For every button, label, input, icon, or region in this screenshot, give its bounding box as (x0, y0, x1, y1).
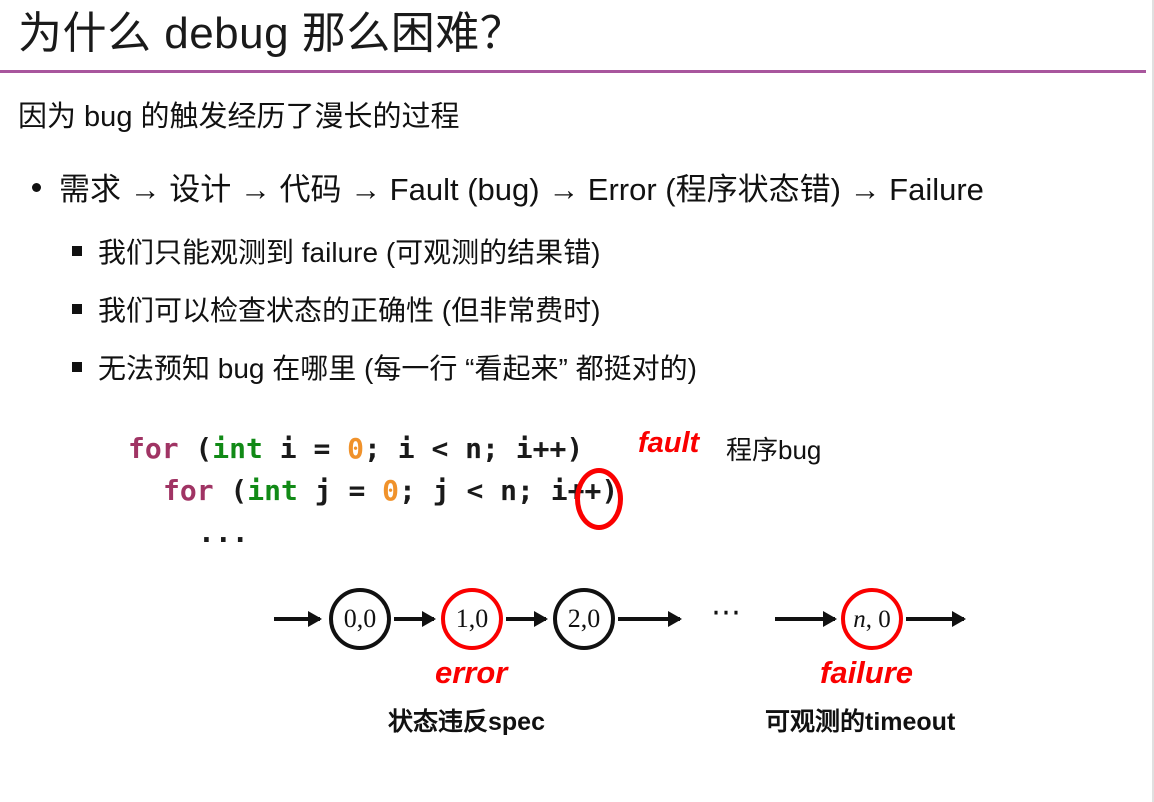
state-node-label-math: n (853, 607, 866, 632)
state-node-0-0: 0,0 (329, 588, 391, 650)
bullet-square-icon (72, 304, 82, 314)
state-node-n-0: n, 0 (841, 588, 903, 650)
bullet-level1-text: 需求 → 设计 → 代码 → Fault (bug) → Error (程序状态… (59, 170, 984, 210)
error-label: error (435, 655, 507, 691)
state-node-label-rest: , 0 (866, 607, 891, 632)
code-line-ellipsis: ... (198, 512, 249, 554)
code-number-zero: 0 (347, 432, 364, 465)
failure-caption: 可观测的timeout (765, 702, 955, 738)
title-underline-rule (0, 70, 1146, 73)
code-var-init: j = (298, 474, 382, 507)
bullet-dot-icon (32, 183, 41, 192)
error-caption: 状态违反spec (388, 702, 545, 738)
code-number-zero: 0 (382, 474, 399, 507)
code-keyword-for: for (163, 474, 214, 507)
fault-annotation-note: 程序bug (726, 430, 821, 467)
arrow-icon-exit (906, 617, 964, 621)
code-line-inner-for: for (int j = 0; j < n; i++) (163, 470, 618, 512)
code-punct-open: ( (214, 474, 248, 507)
code-punct-open: ( (179, 432, 213, 465)
code-line-outer-for: for (int i = 0; i < n; i++) (128, 428, 583, 470)
state-node-1-0: 1,0 (441, 588, 503, 650)
code-type-int: int (247, 474, 298, 507)
arrow-icon-0-to-1 (394, 617, 434, 621)
state-node-label: 0,0 (344, 606, 377, 632)
bullet-level2-check-state: 我们可以检查状态的正确性 (但非常费时) (72, 293, 600, 329)
code-condition: ; j < n; i++) (399, 474, 618, 507)
arrow-icon-into-n (775, 617, 835, 621)
lead-paragraph: 因为 bug 的触发经历了漫长的过程 (18, 99, 460, 137)
bullet-level1-pipeline: 需求 → 设计 → 代码 → Fault (bug) → Error (程序状态… (32, 170, 984, 210)
bullet-level2-text: 我们只能观测到 failure (可观测的结果错) (98, 235, 600, 271)
arrow-icon-1-to-2 (506, 617, 546, 621)
state-node-2-0: 2,0 (553, 588, 615, 650)
failure-label: failure (820, 655, 913, 691)
slide-canvas: 为什么 debug 那么困难？ 因为 bug 的触发经历了漫长的过程 需求 → … (0, 0, 1154, 802)
code-type-int: int (212, 432, 263, 465)
bullet-level2-observe-failure: 我们只能观测到 failure (可观测的结果错) (72, 235, 600, 271)
arrow-icon-2-onward (618, 617, 680, 621)
code-var-init: i = (263, 432, 347, 465)
code-condition: ; i < n; i++) (364, 432, 583, 465)
state-node-label: 2,0 (568, 606, 601, 632)
fault-annotation-label: fault (638, 427, 699, 460)
bullet-square-icon (72, 246, 82, 256)
diagram-ellipsis: ⋯ (711, 595, 743, 630)
bullet-square-icon (72, 362, 82, 372)
bullet-level2-text: 无法预知 bug 在哪里 (每一行 “看起来” 都挺对的) (98, 351, 697, 387)
bullet-level2-text: 我们可以检查状态的正确性 (但非常费时) (98, 293, 600, 329)
state-node-label: 1,0 (456, 606, 489, 632)
code-keyword-for: for (128, 432, 179, 465)
state-diagram: 0,0 1,0 2,0 ⋯ n, 0 error failure 状态违反spe… (0, 555, 1154, 730)
bullet-level2-unknown-bug: 无法预知 bug 在哪里 (每一行 “看起来” 都挺对的) (72, 351, 697, 387)
arrow-icon-entry (274, 617, 320, 621)
page-title: 为什么 debug 那么困难？ (18, 6, 524, 61)
